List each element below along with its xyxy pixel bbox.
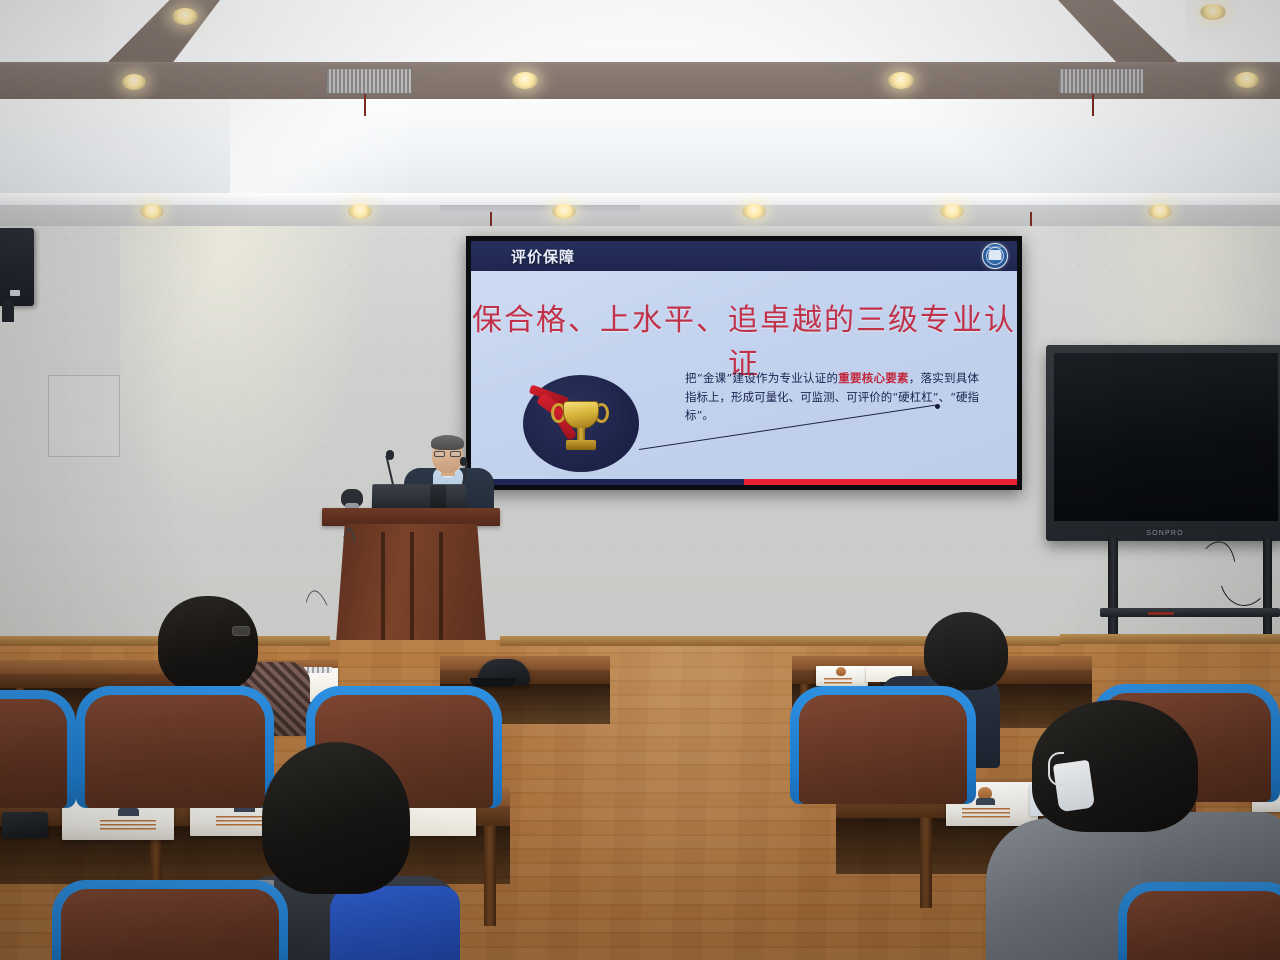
ceiling-downlight (1200, 4, 1226, 20)
attendee-right-back-head (924, 612, 1008, 690)
projection-screen[interactable]: 评价保障 UNIVERSITY 保合格、上水平、追卓越的三级专业认证 (466, 236, 1022, 490)
slide-accent-bar-red (744, 479, 1017, 485)
presenter-laptop[interactable] (372, 484, 467, 510)
chair-backrest-pad (1127, 891, 1280, 960)
chair-backrest-pad (799, 695, 967, 804)
chair-backrest-pad (0, 699, 67, 808)
slide-accent-bar-navy (471, 479, 744, 485)
display-brand-label: SONPRO (1146, 530, 1184, 537)
wall-speaker (0, 228, 34, 306)
display-screen (1054, 353, 1278, 521)
chair[interactable] (790, 686, 976, 804)
baseboard (1060, 634, 1280, 644)
microphone-head (386, 450, 394, 460)
trophy-bowl (563, 401, 599, 429)
display-stand-shelf (1100, 608, 1280, 617)
seal-building-glyph (989, 252, 1002, 260)
ceiling-downlight (172, 8, 198, 25)
attendee-front-left-head (158, 596, 258, 692)
ceiling-downlight (512, 72, 538, 89)
ceiling-downlight (1148, 204, 1172, 219)
desk-leg (920, 818, 932, 908)
podium-top (322, 508, 500, 526)
trophy-base (566, 440, 596, 450)
book-cover-text (962, 808, 1010, 818)
presenter-hair (431, 435, 464, 450)
trophy-illustration (523, 375, 639, 472)
book-cover-portrait-body (118, 808, 139, 816)
sprinkler (1092, 94, 1094, 116)
slide-body-text: 把“金课”建设作为专业认证的重要核心要素，落实到具体指标上，形成可量化、可监测、… (685, 369, 979, 425)
ceiling-downlight (552, 204, 576, 219)
display-monitor[interactable]: SONPRO (1046, 345, 1280, 541)
ceiling-downlight (140, 204, 164, 219)
sprinkler (364, 94, 366, 116)
chair[interactable] (0, 690, 76, 808)
desk-leg (484, 826, 496, 926)
display-stand-marker (1148, 612, 1174, 615)
wall-access-panel (48, 375, 120, 457)
university-seal-icon: UNIVERSITY (982, 243, 1008, 269)
book-cover-portrait-body (976, 798, 995, 805)
attendee-left-near-backpack (330, 886, 460, 960)
smartphone[interactable] (2, 812, 48, 838)
presenter-glasses (450, 451, 461, 457)
ceiling (0, 0, 1280, 232)
ceiling-downlight (1234, 72, 1259, 88)
book-cover-text (100, 820, 156, 832)
microphone-head (460, 457, 467, 466)
hvac-vent (326, 68, 412, 94)
slide-text-segment-1: 把“金课”建设作为专业认证的 (685, 371, 838, 385)
chair[interactable] (1118, 882, 1280, 960)
chair-backrest-pad (85, 695, 265, 808)
presenter-glasses (434, 451, 445, 457)
book-cover-portrait (836, 667, 846, 676)
ceiling-downlight (122, 74, 146, 90)
speaker-mount (2, 300, 14, 322)
slide-body: 保合格、上水平、追卓越的三级专业认证 把“金课”建设作 (471, 271, 1017, 485)
chair[interactable] (52, 880, 288, 960)
ceiling-downlight (742, 204, 766, 219)
speaker-badge (10, 290, 20, 296)
seal-text: UNIVERSITY (983, 246, 1007, 249)
slide-surface: 评价保障 UNIVERSITY 保合格、上水平、追卓越的三级专业认证 (471, 241, 1017, 485)
attendee-front-left-glasses (232, 626, 250, 636)
face-mask-strap (1048, 752, 1064, 786)
ceiling-downlight (348, 204, 372, 219)
book-cover-text (824, 678, 852, 684)
hvac-vent (1058, 68, 1144, 94)
ceiling-downlight (888, 72, 914, 89)
chair[interactable] (76, 686, 274, 808)
slide-text-emphasis: 重要核心要素 (838, 371, 909, 385)
ceiling-downlight (940, 204, 964, 219)
attendee-left-near-head (262, 742, 410, 894)
slide-header-bar: 评价保障 UNIVERSITY (471, 241, 1017, 271)
slide-header-title: 评价保障 (511, 246, 575, 267)
chair-backrest-pad (61, 889, 279, 960)
lecture-hall-scene: 评价保障 UNIVERSITY 保合格、上水平、追卓越的三级专业认证 (0, 0, 1280, 960)
wall-light-spill (120, 226, 380, 526)
